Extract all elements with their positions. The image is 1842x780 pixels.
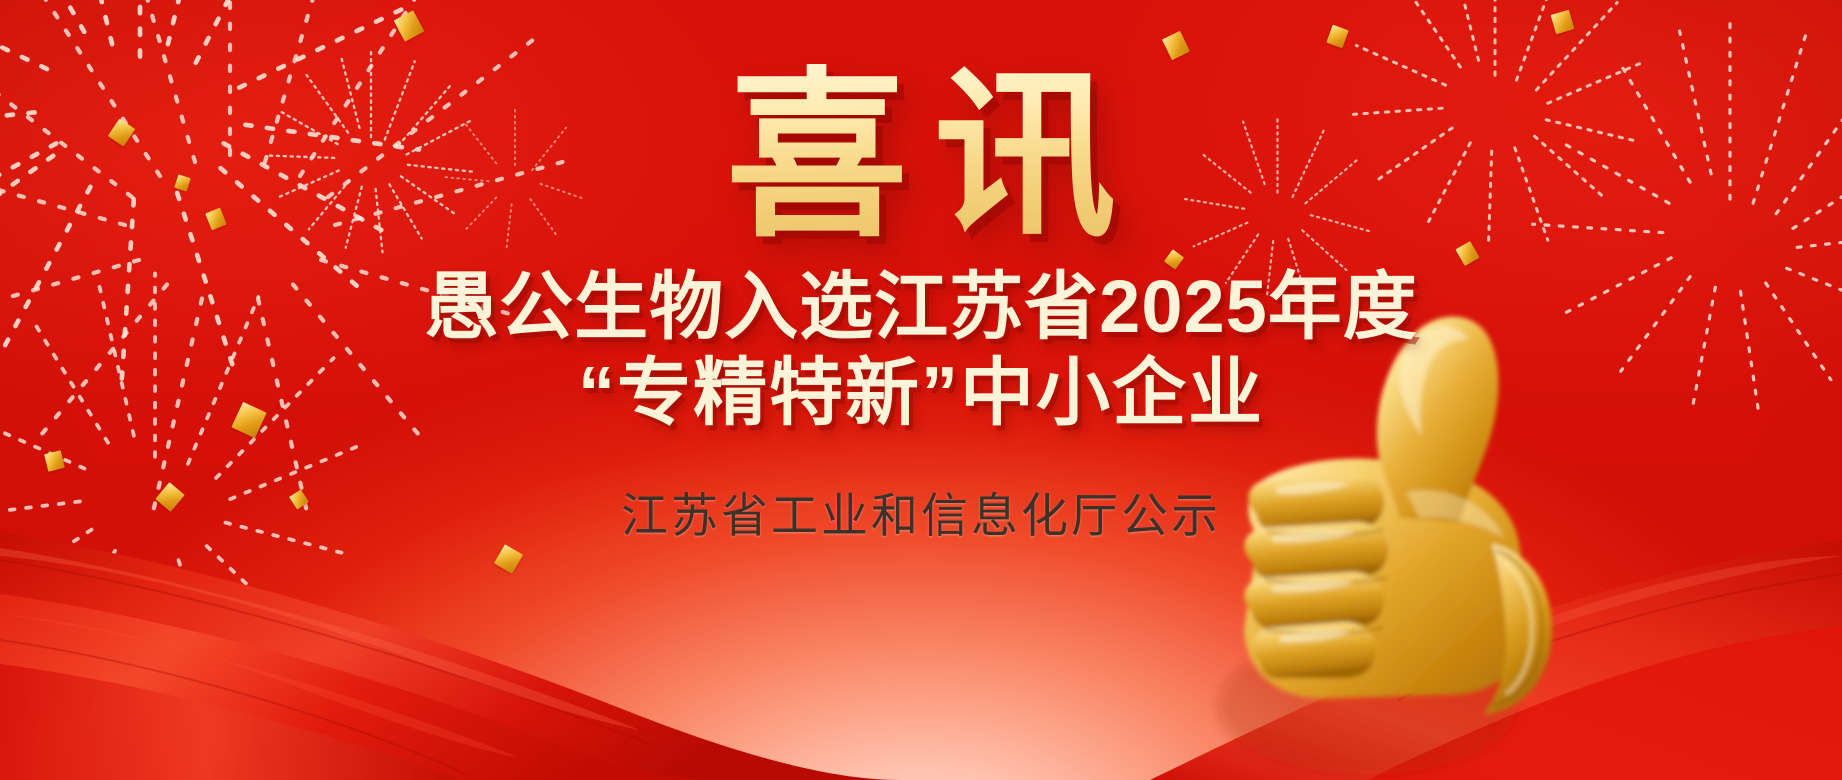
headline-line-2: “专精特新”中小企业 — [424, 350, 1418, 437]
headline-line-1: 愚公生物入选江苏省2025年度 — [424, 264, 1418, 351]
subtitle: 江苏省工业和信息化厅公示 — [621, 477, 1221, 546]
celebration-banner: 喜讯 愚公生物入选江苏省2025年度 “专精特新”中小企业 江苏省工业和信息化厅… — [0, 0, 1842, 780]
page-title: 喜讯 — [700, 64, 1142, 250]
banner-content: 喜讯 愚公生物入选江苏省2025年度 “专精特新”中小企业 江苏省工业和信息化厅… — [0, 0, 1842, 780]
headline: 愚公生物入选江苏省2025年度 “专精特新”中小企业 — [424, 264, 1418, 437]
